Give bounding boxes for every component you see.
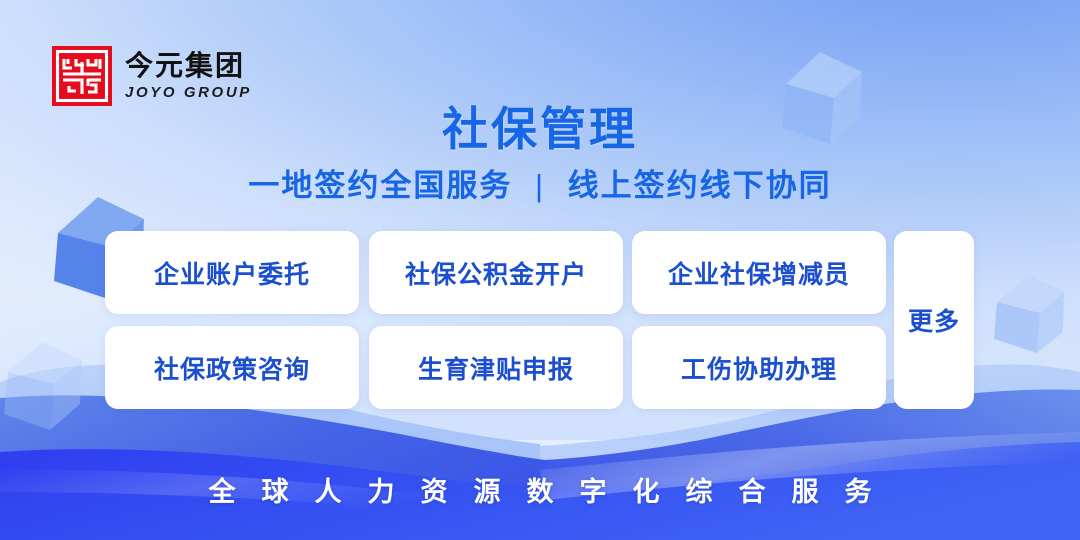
page-subtitle: 一地签约全国服务 | 线上签约线下协同 (0, 160, 1080, 205)
social-insurance-banner: 今元集团 JOYO GROUP 社保管理 一地签约全国服务 | 线上签约线下协同… (0, 0, 1080, 540)
service-card-label: 社保政策咨询 (154, 350, 310, 386)
more-services-button[interactable]: 更多 (894, 231, 974, 409)
service-card[interactable]: 社保政策咨询 (105, 326, 359, 409)
subtitle-left: 一地签约全国服务 (248, 168, 512, 203)
service-card-label: 生育津贴申报 (418, 350, 574, 386)
service-card-label: 企业社保增减员 (668, 255, 850, 291)
service-card-grid: 企业账户委托 社保政策咨询 社保公积金开户 生育津贴申报 企业社保增减员 工伤协… (105, 231, 975, 409)
service-card[interactable]: 企业社保增减员 (632, 231, 886, 314)
service-card-label: 企业账户委托 (154, 255, 310, 291)
service-card[interactable]: 生育津贴申报 (369, 326, 623, 409)
page-title: 社保管理 (0, 93, 1080, 159)
cube-left-lower-icon (0, 338, 88, 436)
service-column-2: 社保公积金开户 生育津贴申报 (369, 231, 623, 409)
service-card[interactable]: 工伤协助办理 (632, 326, 886, 409)
subtitle-divider: | (523, 168, 557, 204)
more-services-label: 更多 (908, 302, 960, 338)
service-card[interactable]: 社保公积金开户 (369, 231, 623, 314)
footer-tagline: 全球人力资源数字化综合服务 (0, 470, 1080, 509)
brand-name-cn: 今元集团 (125, 52, 252, 80)
service-card-label: 工伤协助办理 (681, 350, 837, 386)
subtitle-right: 线上签约线下协同 (568, 168, 832, 203)
service-column-1: 企业账户委托 社保政策咨询 (105, 231, 359, 409)
cube-right-middle-icon (988, 272, 1070, 358)
service-card-label: 社保公积金开户 (405, 255, 587, 291)
service-column-3: 企业社保增减员 工伤协助办理 (632, 231, 886, 409)
service-card[interactable]: 企业账户委托 (105, 231, 359, 314)
